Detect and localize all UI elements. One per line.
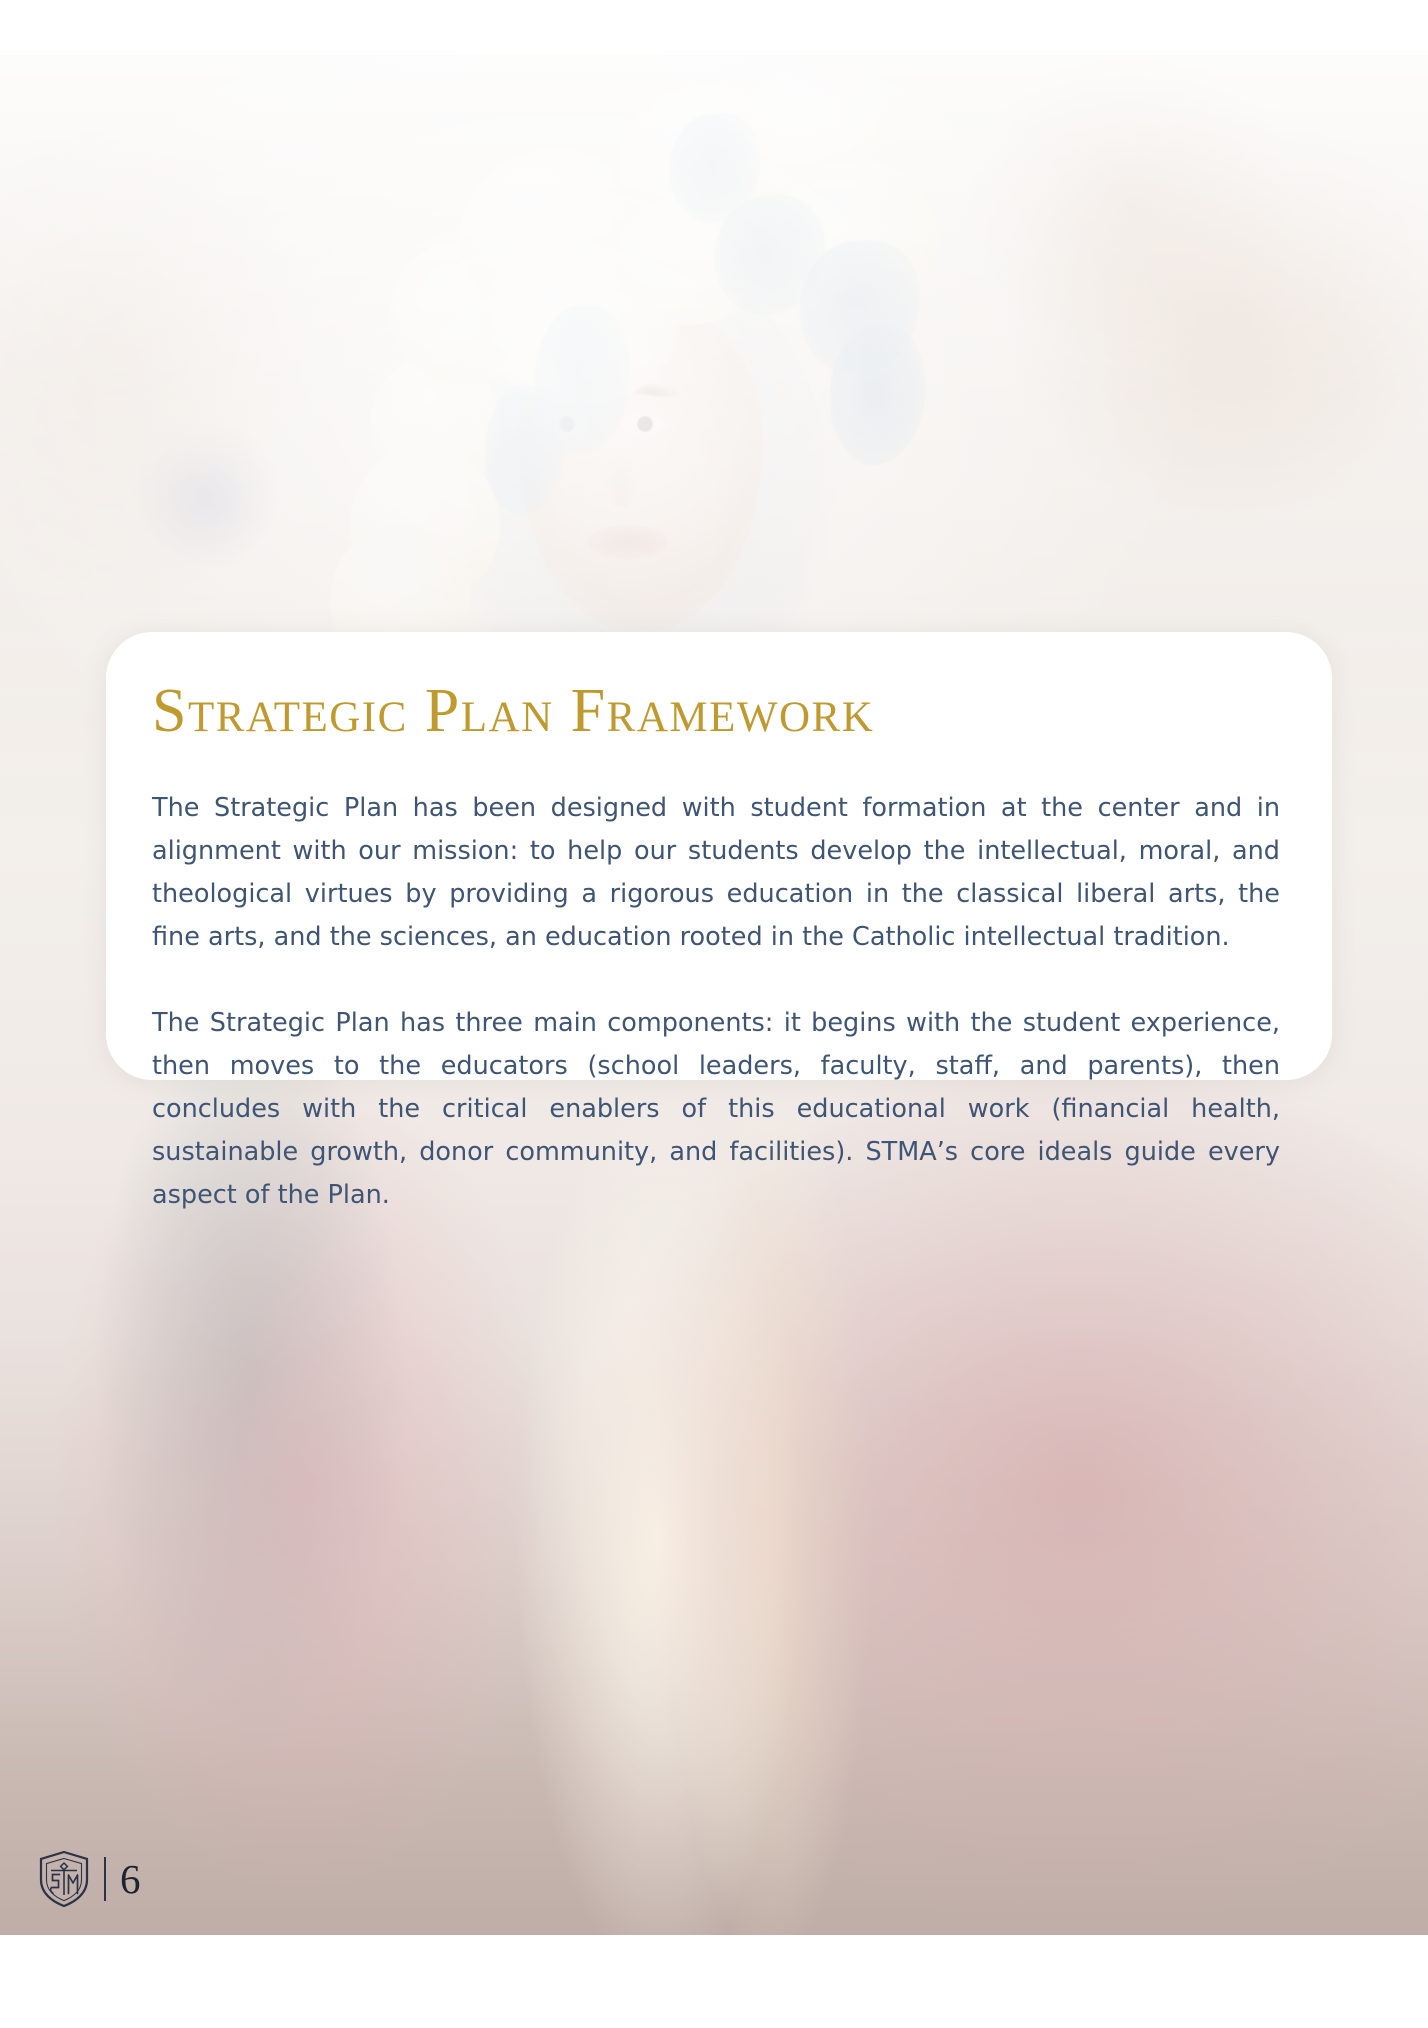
page-number: 6 xyxy=(120,1859,141,1900)
stma-shield-logo-icon xyxy=(38,1850,90,1908)
document-page: Strategic Plan Framework The Strategic P… xyxy=(0,0,1428,2028)
page-title: Strategic Plan Framework xyxy=(152,680,1286,743)
body-paragraph-1: The Strategic Plan has been designed wit… xyxy=(152,787,1286,959)
page-footer: 6 xyxy=(38,1850,141,1908)
content-card: Strategic Plan Framework The Strategic P… xyxy=(106,632,1332,1080)
body-paragraph-2: The Strategic Plan has three main compon… xyxy=(152,1002,1286,1217)
footer-divider xyxy=(104,1857,106,1901)
